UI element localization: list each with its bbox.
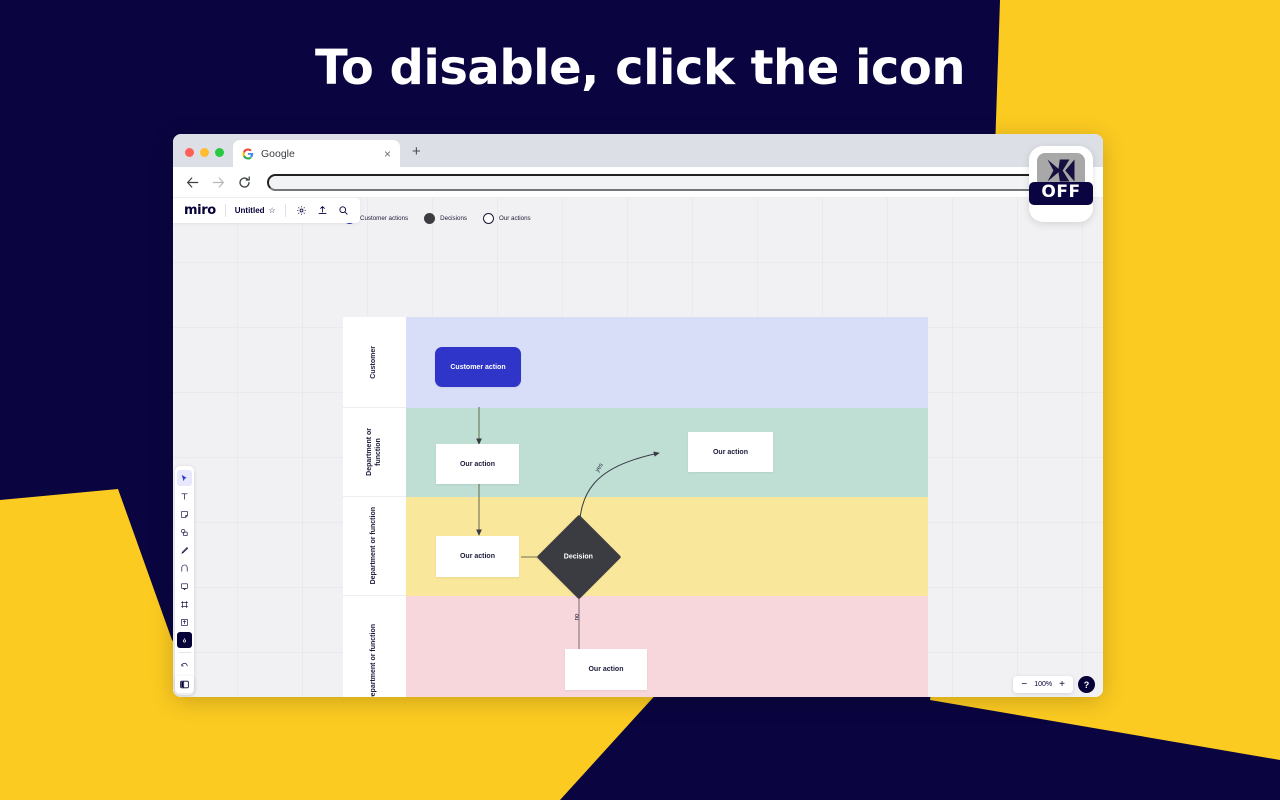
legend-label: Customer actions (360, 215, 408, 222)
gear-icon[interactable] (295, 204, 308, 217)
miro-topbar: miro Untitled ☆ (173, 198, 360, 223)
swimlane-body[interactable] (406, 497, 928, 596)
apps-tool[interactable] (177, 632, 192, 648)
swimlane-label: Department or function (370, 507, 379, 584)
maximize-window-button[interactable] (215, 148, 224, 157)
legend: Customer actions Decisions Our actions (344, 213, 531, 224)
star-icon[interactable]: ☆ (269, 206, 276, 215)
close-icon[interactable]: × (384, 148, 391, 160)
zoom-in-button[interactable]: + (1059, 680, 1065, 690)
swimlane-board[interactable]: Customer Department or function Departme… (343, 317, 928, 697)
zoom-level: 100% (1034, 681, 1052, 688)
browser-window: Google × + miro (173, 134, 1103, 697)
legend-item-decisions: Decisions (424, 213, 467, 224)
miro-canvas[interactable]: miro Untitled ☆ (173, 198, 1103, 697)
swimlane-label: Customer (370, 346, 379, 379)
swimlane-label: Department or function (366, 428, 384, 476)
status-badge: OFF (1029, 182, 1092, 205)
back-icon[interactable] (185, 175, 200, 190)
upload-icon[interactable] (316, 204, 329, 217)
zoom-out-button[interactable]: − (1021, 680, 1027, 690)
reload-icon[interactable] (237, 175, 252, 190)
panel-toggle-button[interactable] (175, 676, 194, 693)
swimlane-label: Department or function (370, 624, 379, 697)
divider (225, 204, 226, 217)
divider (178, 652, 191, 653)
swimlane-header[interactable]: Department or function (343, 596, 406, 697)
swimlane-body[interactable] (406, 408, 928, 497)
zoom-controls[interactable]: − 100% + (1013, 676, 1073, 693)
help-button[interactable]: ? (1078, 676, 1095, 693)
swimlane-header[interactable]: Department or function (343, 408, 406, 497)
close-window-button[interactable] (185, 148, 194, 157)
upload-media-tool[interactable] (177, 614, 192, 630)
sticky-note-tool[interactable] (177, 506, 192, 522)
forward-icon[interactable] (211, 175, 226, 190)
google-icon (242, 148, 254, 160)
swimlane-row: Customer (343, 317, 928, 408)
legend-label: Decisions (440, 215, 467, 222)
pen-tool[interactable] (177, 542, 192, 558)
extension-status-badge[interactable]: OFF (1029, 146, 1093, 222)
minimize-window-button[interactable] (200, 148, 209, 157)
legend-swatch (483, 213, 494, 224)
text-tool[interactable] (177, 488, 192, 504)
browser-navbar (173, 167, 1103, 198)
swimlane-body[interactable] (406, 596, 928, 697)
swimlane-row: Department or function (343, 408, 928, 497)
miro-logo[interactable]: miro (184, 203, 216, 218)
address-bar[interactable] (267, 174, 1091, 191)
swimlane-row: Department or function (343, 596, 928, 697)
tab-title: Google (261, 148, 377, 160)
comment-tool[interactable] (177, 578, 192, 594)
divider (285, 204, 286, 217)
legend-swatch (424, 213, 435, 224)
swimlane-body[interactable] (406, 317, 928, 408)
swimlane-row: Department or function (343, 497, 928, 596)
yellow-shape-bottom (0, 690, 660, 800)
new-tab-button[interactable]: + (412, 143, 421, 160)
browser-tab[interactable]: Google × (233, 140, 400, 167)
browser-tabstrip: Google × + (173, 134, 1103, 167)
cursor-tool[interactable] (177, 470, 192, 486)
window-controls[interactable] (181, 148, 233, 167)
page-title: To disable, click the icon (0, 40, 1280, 96)
swimlane-header[interactable]: Department or function (343, 497, 406, 596)
miro-toolbar[interactable] (175, 466, 194, 695)
document-title[interactable]: Untitled (235, 206, 265, 215)
swimlane-header[interactable]: Customer (343, 317, 406, 408)
connector-tool[interactable] (177, 560, 192, 576)
undo-tool[interactable] (177, 657, 192, 673)
frame-tool[interactable] (177, 596, 192, 612)
shapes-tool[interactable] (177, 524, 192, 540)
legend-label: Our actions (499, 215, 531, 222)
search-icon[interactable] (337, 204, 350, 217)
legend-item-our-actions: Our actions (483, 213, 531, 224)
